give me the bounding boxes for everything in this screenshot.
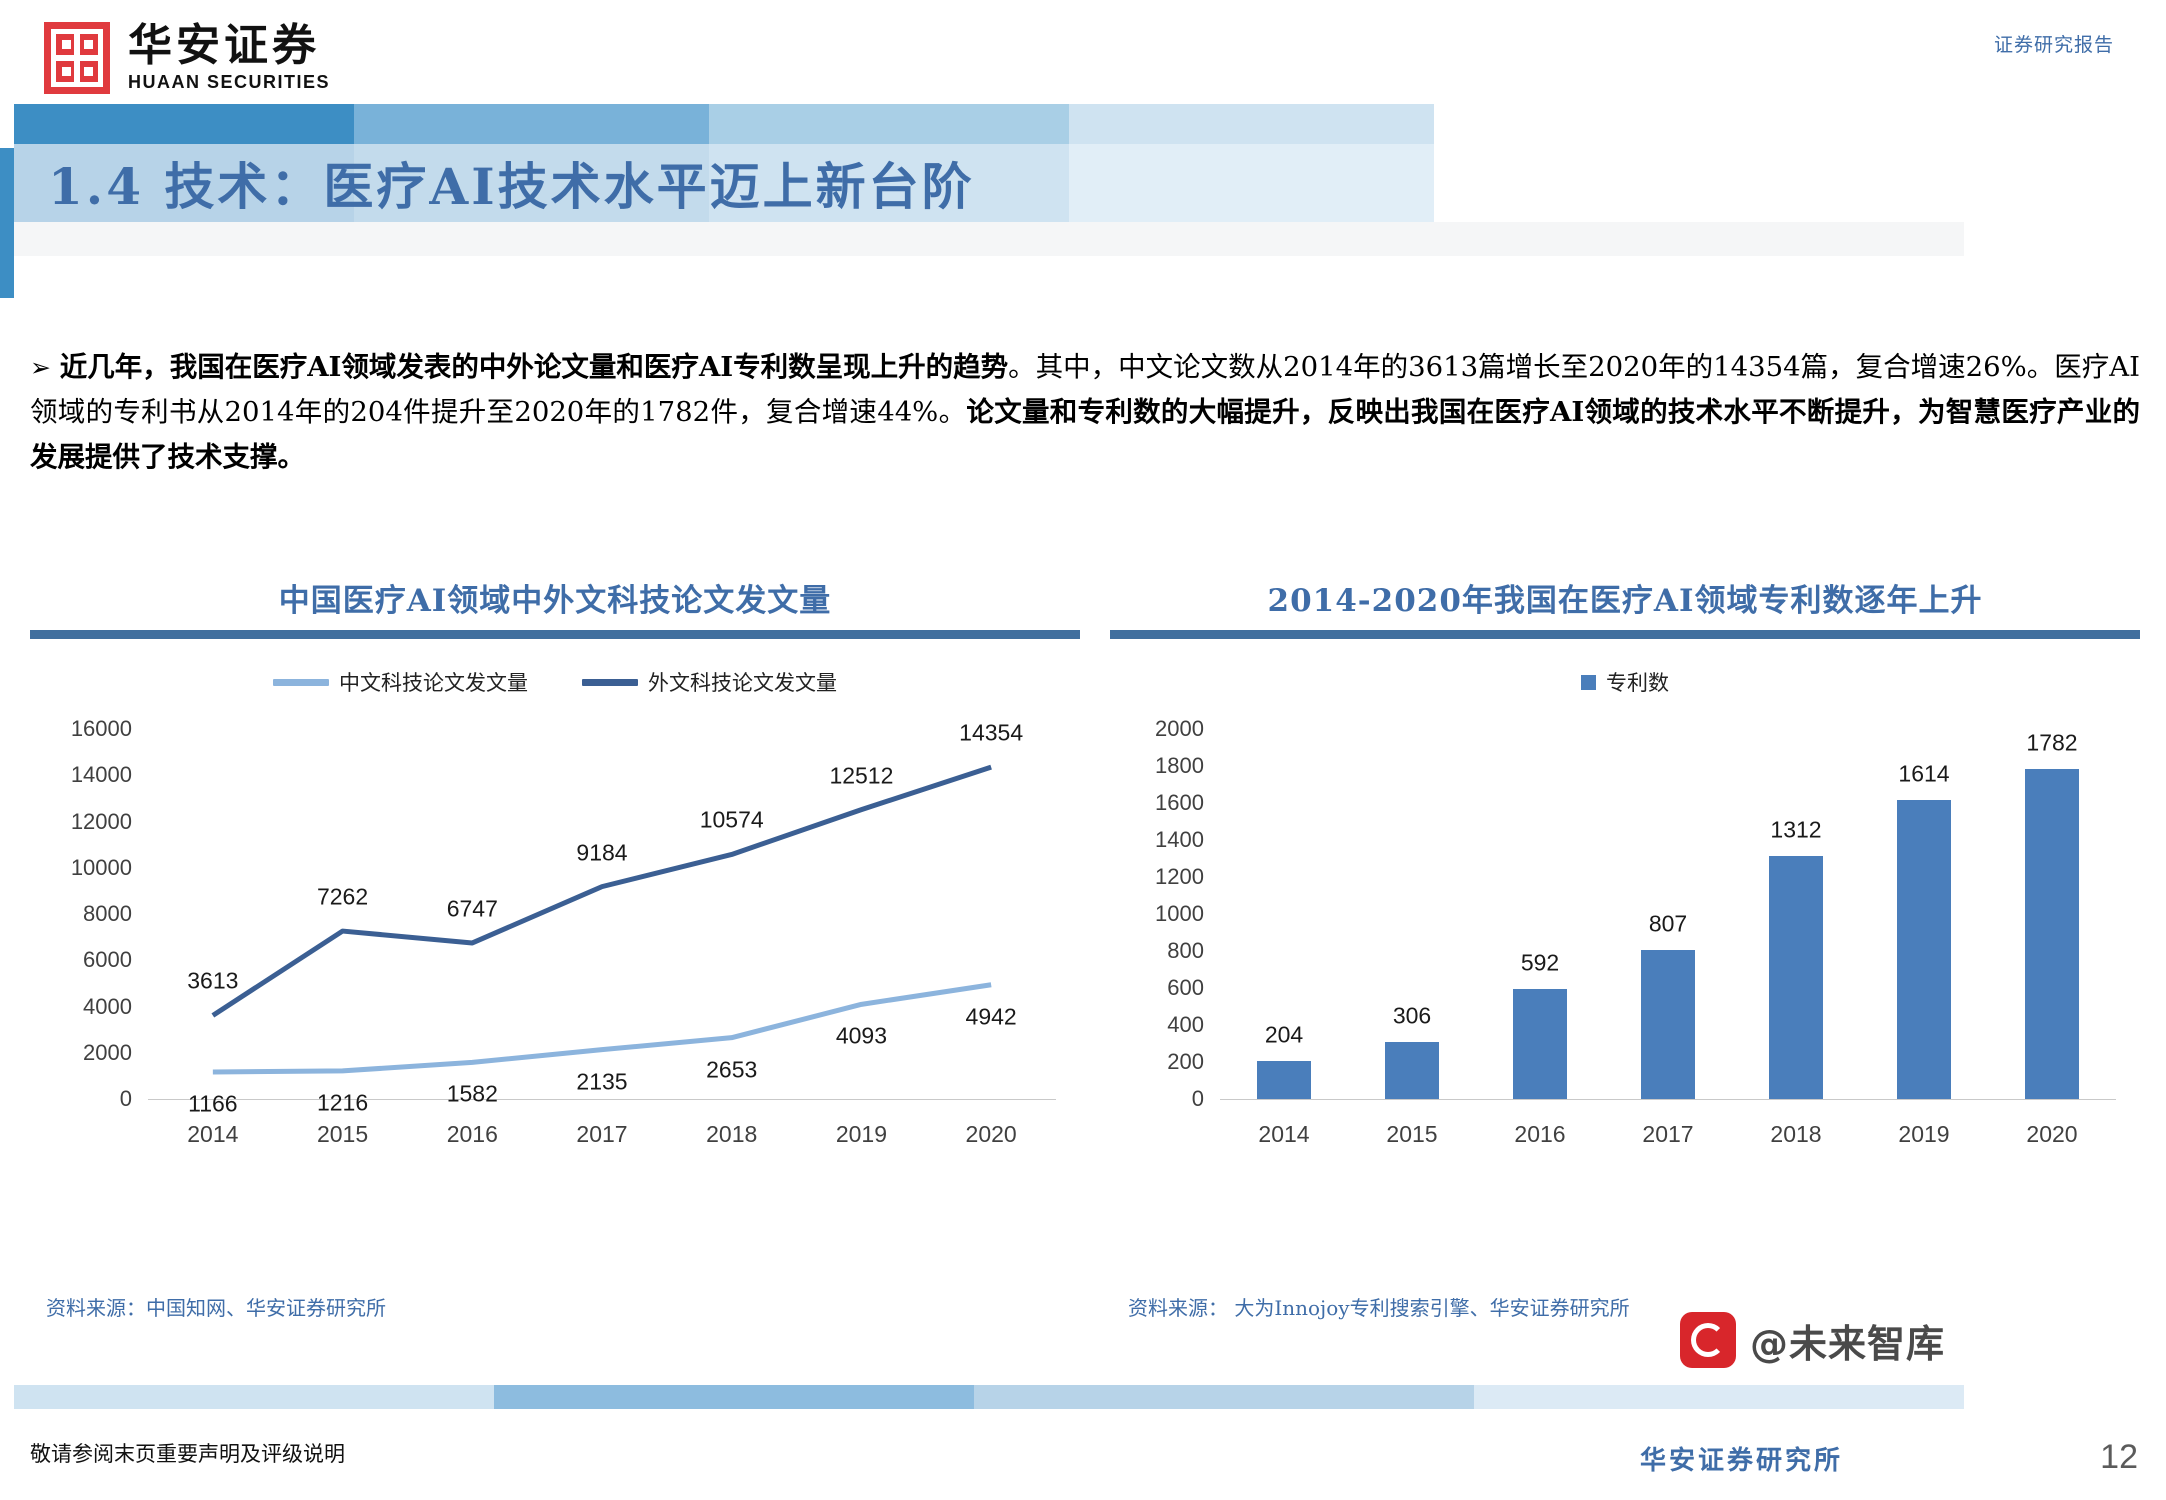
- x-axis-tick: 2018: [706, 1121, 757, 1148]
- y-axis-tick: 600: [1167, 975, 1204, 1001]
- legend-swatch-patents: [1581, 675, 1596, 690]
- data-label-cn: 1216: [317, 1089, 368, 1116]
- bar: [1769, 856, 1823, 1099]
- legend-swatch-en: [582, 679, 638, 686]
- bar: [1897, 800, 1951, 1099]
- footer-band-2: [494, 1385, 974, 1409]
- data-label-en: 14354: [959, 720, 1023, 747]
- footer-band-3: [974, 1385, 1474, 1409]
- bar: [1513, 989, 1567, 1099]
- legend-item-cn[interactable]: 中文科技论文发文量: [273, 667, 528, 697]
- right-chart-plot: 0200400600800100012001400160018002000204…: [1110, 713, 2140, 1163]
- footer-disclaimer: 敬请参阅末页重要声明及评级说明: [30, 1438, 345, 1468]
- legend-label-en: 外文科技论文发文量: [648, 667, 837, 697]
- y-axis-tick: 1800: [1155, 753, 1204, 779]
- left-chart-title: 中国医疗AI领域中外文科技论文发文量: [30, 575, 1080, 620]
- left-rail-accent: [0, 148, 14, 298]
- y-axis-tick: 1000: [1155, 901, 1204, 927]
- bar-value-label: 1614: [1898, 761, 1949, 788]
- body-paragraph: ➢ 近几年，我国在医疗AI领域发表的中外论文量和医疗AI专利数呈现上升的趋势。其…: [30, 345, 2140, 480]
- page-number: 12: [2100, 1438, 2138, 1477]
- bar: [2025, 769, 2079, 1099]
- data-label-en: 12512: [829, 762, 893, 789]
- x-axis-tick: 2017: [576, 1121, 627, 1148]
- legend-swatch-cn: [273, 679, 329, 686]
- y-axis-tick: 200: [1167, 1049, 1204, 1075]
- x-axis-tick: 2019: [1898, 1121, 1949, 1148]
- x-axis-tick: 2014: [187, 1121, 238, 1148]
- y-axis-tick: 2000: [1155, 716, 1204, 742]
- data-label-en: 3613: [187, 968, 238, 995]
- bar: [1641, 950, 1695, 1099]
- data-label-cn: 2135: [576, 1068, 627, 1095]
- huaan-logo-mark: [44, 22, 110, 94]
- bar-value-label: 204: [1265, 1022, 1303, 1049]
- watermark: @未来智库: [1680, 1312, 1945, 1368]
- y-axis-tick: 400: [1167, 1012, 1204, 1038]
- x-axis-tick: 2019: [836, 1121, 887, 1148]
- x-axis-tick: 2020: [2026, 1121, 2077, 1148]
- footer-band-4: [1474, 1385, 1964, 1409]
- title-underband: [14, 222, 1964, 256]
- legend-item-patents[interactable]: 专利数: [1581, 667, 1669, 697]
- y-axis-tick: 1600: [1155, 790, 1204, 816]
- y-axis-tick: 800: [1167, 938, 1204, 964]
- left-chart-card: 中国医疗AI领域中外文科技论文发文量 中文科技论文发文量 外文科技论文发文量 0…: [30, 575, 1080, 1275]
- y-axis-tick: 1400: [1155, 827, 1204, 853]
- right-chart-title: 2014-2020年我国在医疗AI领域专利数逐年上升: [1110, 575, 2140, 620]
- right-chart-legend: 专利数: [1110, 667, 2140, 697]
- x-axis-tick: 2015: [317, 1121, 368, 1148]
- x-axis-tick: 2018: [1770, 1121, 1821, 1148]
- left-chart-source: 资料来源：中国知网、华安证券研究所: [46, 1292, 386, 1321]
- bar-value-label: 306: [1393, 1003, 1431, 1030]
- legend-label-cn: 中文科技论文发文量: [339, 667, 528, 697]
- data-label-en: 7262: [317, 884, 368, 911]
- footer-brand-name: 华安证券研究所: [1640, 1440, 1843, 1477]
- data-label-cn: 4942: [966, 1003, 1017, 1030]
- data-label-cn: 4093: [836, 1023, 887, 1050]
- company-logo: 华安证券 HUAAN SECURITIES: [44, 22, 330, 94]
- x-axis-tick: 2016: [447, 1121, 498, 1148]
- bar-value-label: 1312: [1770, 817, 1821, 844]
- logo-text-chinese: 华安证券: [128, 23, 330, 69]
- x-axis-tick: 2014: [1258, 1121, 1309, 1148]
- data-label-cn: 1582: [447, 1081, 498, 1108]
- left-chart-legend: 中文科技论文发文量 外文科技论文发文量: [30, 667, 1080, 697]
- x-axis-tick: 2020: [966, 1121, 1017, 1148]
- data-label-en: 10574: [700, 807, 764, 834]
- paragraph-bold-lead: 近几年，我国在医疗AI领域发表的中外论文量和医疗AI专利数呈现上升的趋势: [60, 351, 1008, 383]
- bar-value-label: 1782: [2026, 730, 2077, 757]
- title-banner-strip: [14, 104, 1974, 144]
- data-label-cn: 2653: [706, 1056, 757, 1083]
- left-chart-rule: [30, 630, 1080, 639]
- bar: [1385, 1042, 1439, 1099]
- bar: [1257, 1061, 1311, 1099]
- data-label-en: 9184: [576, 839, 627, 866]
- watermark-text: @未来智库: [1750, 1313, 1945, 1368]
- data-label-cn: 1166: [188, 1091, 237, 1118]
- right-chart-rule: [1110, 630, 2140, 639]
- right-chart-card: 2014-2020年我国在医疗AI领域专利数逐年上升 专利数 020040060…: [1110, 575, 2140, 1275]
- report-type-label: 证券研究报告: [1994, 30, 2114, 57]
- toutiao-icon: [1680, 1312, 1736, 1368]
- legend-label-patents: 专利数: [1606, 667, 1669, 697]
- bar-value-label: 592: [1521, 950, 1559, 977]
- footer-band-1: [14, 1385, 494, 1409]
- page-title: 1.4 技术：医疗AI技术水平迈上新台阶: [48, 144, 975, 222]
- right-chart-source: 资料来源： 大为Innojoy专利搜索引擎、华安证券研究所: [1128, 1292, 1630, 1321]
- x-axis-tick: 2016: [1514, 1121, 1565, 1148]
- y-axis-tick: 0: [1192, 1086, 1204, 1112]
- y-axis-tick: 1200: [1155, 864, 1204, 890]
- bullet-icon: ➢: [30, 353, 51, 382]
- bar-value-label: 807: [1649, 910, 1687, 937]
- data-label-en: 6747: [447, 895, 498, 922]
- x-axis-tick: 2017: [1642, 1121, 1693, 1148]
- left-chart-plot: 0200040006000800010000120001400016000116…: [30, 713, 1080, 1163]
- x-axis-line: [1220, 1099, 2116, 1100]
- legend-item-en[interactable]: 外文科技论文发文量: [582, 667, 837, 697]
- logo-text-english: HUAAN SECURITIES: [128, 72, 330, 93]
- x-axis-tick: 2015: [1386, 1121, 1437, 1148]
